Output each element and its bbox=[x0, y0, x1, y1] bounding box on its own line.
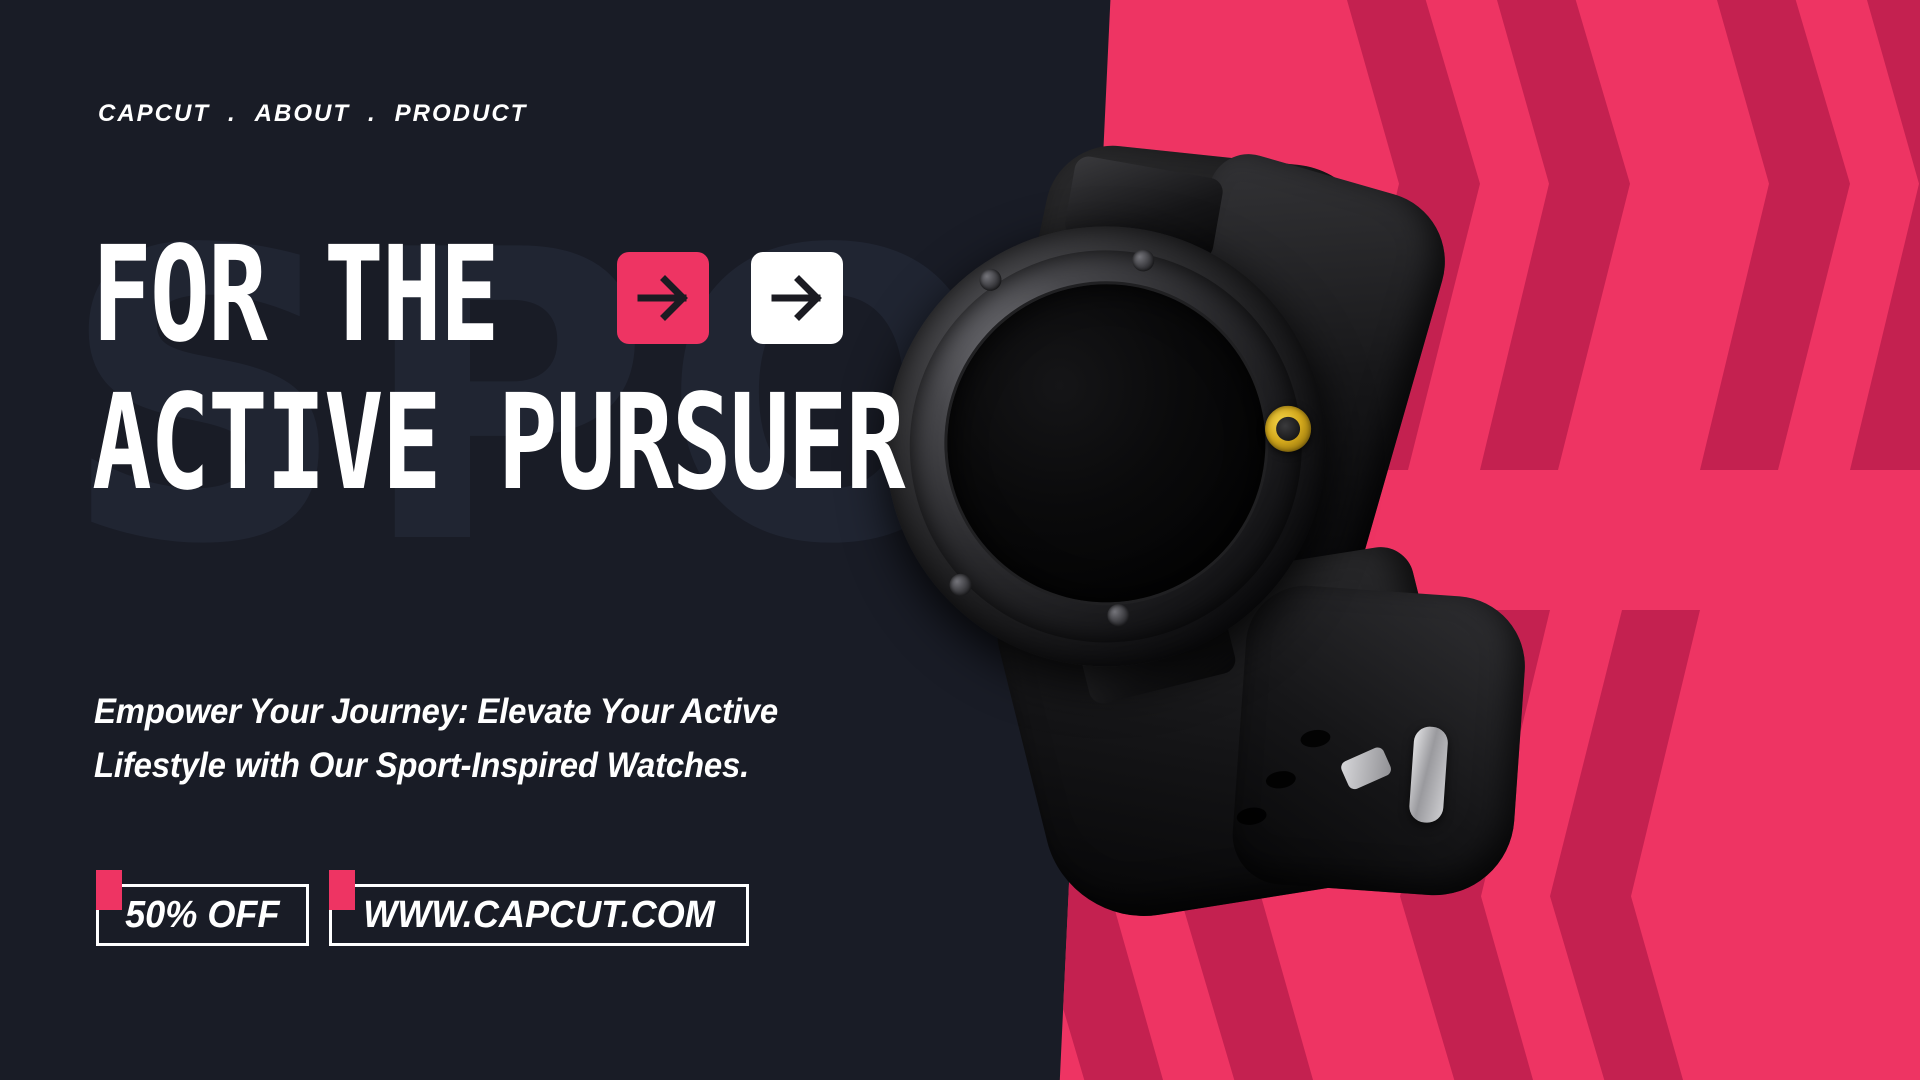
cta-arrow-button-primary[interactable] bbox=[617, 252, 709, 344]
headline-line-2: ACTIVE PURSUER bbox=[92, 380, 904, 506]
discount-badge-box: 50% OFF bbox=[96, 884, 309, 946]
cta-arrow-group bbox=[617, 252, 843, 344]
watch-strap-lower-back bbox=[1229, 582, 1529, 901]
top-navigation: CAPCUT . ABOUT . PRODUCT bbox=[96, 100, 529, 128]
nav-item-about[interactable]: ABOUT bbox=[253, 100, 352, 128]
discount-badge[interactable]: 50% OFF bbox=[96, 870, 309, 946]
chevron-decoration bbox=[1850, 0, 1920, 470]
arrow-right-icon bbox=[769, 270, 825, 326]
promo-banner: SPORT CAPCUT . ABOU bbox=[0, 0, 1920, 1080]
badge-accent-square bbox=[96, 870, 122, 910]
headline-line-1: FOR THE bbox=[92, 233, 498, 359]
nav-separator: . bbox=[212, 100, 253, 128]
website-badge-label: WWW.CAPCUT.COM bbox=[363, 894, 715, 937]
product-image bbox=[828, 95, 1633, 985]
cta-badges: 50% OFF WWW.CAPCUT.COM bbox=[96, 870, 749, 946]
badge-accent-square bbox=[329, 870, 355, 910]
chevron-decoration bbox=[1700, 0, 1850, 470]
arrow-right-icon bbox=[635, 270, 691, 326]
discount-badge-label: 50% OFF bbox=[125, 894, 279, 937]
nav-separator: . bbox=[352, 100, 393, 128]
website-badge-box: WWW.CAPCUT.COM bbox=[329, 884, 749, 946]
hero-headline: FOR THE ACTIVE PURSUER bbox=[92, 244, 1092, 495]
watch-buckle bbox=[1408, 726, 1449, 824]
website-badge[interactable]: WWW.CAPCUT.COM bbox=[329, 870, 749, 946]
nav-item-product[interactable]: PRODUCT bbox=[393, 100, 530, 128]
cta-arrow-button-secondary[interactable] bbox=[751, 252, 843, 344]
hero-subtitle: Empower Your Journey: Elevate Your Activ… bbox=[94, 685, 808, 794]
nav-item-capcut[interactable]: CAPCUT bbox=[96, 100, 212, 128]
